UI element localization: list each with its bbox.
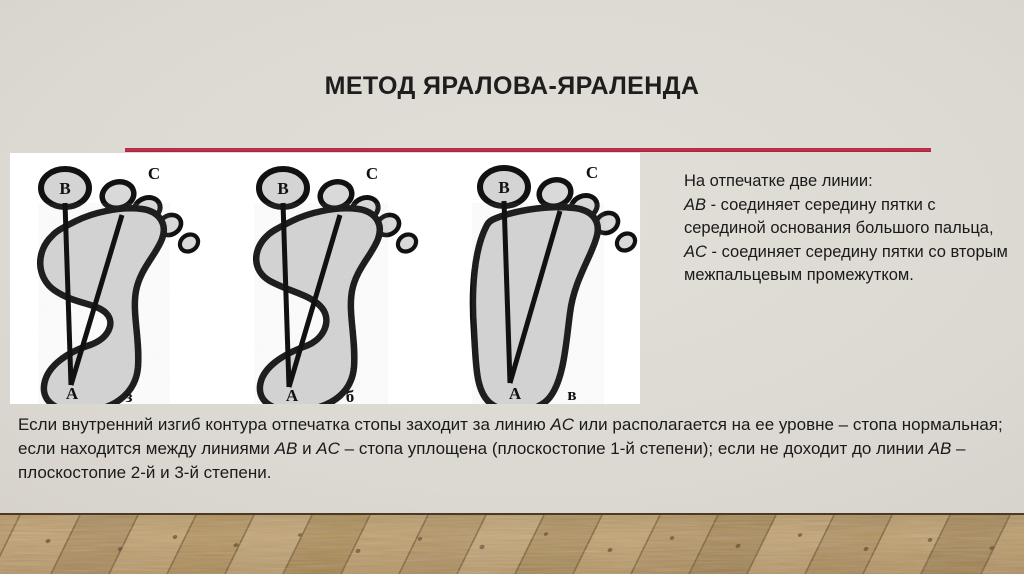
label-point-a: A: [509, 384, 522, 403]
footprint-caption-c: в: [567, 385, 576, 404]
bottom-em-ac-2: AC: [316, 439, 340, 458]
label-point-a: A: [66, 384, 79, 403]
line-desc-ab: - соединяет середину пятки с серединой о…: [684, 196, 994, 238]
line-label-ac: AC: [684, 243, 707, 261]
bottom-part-1: Если внутренний изгиб контура отпечатка …: [18, 415, 550, 434]
label-point-b: B: [59, 179, 70, 198]
interpretation-paragraph: Если внутренний изгиб контура отпечатка …: [18, 413, 1008, 485]
label-point-c: C: [366, 164, 378, 183]
bottom-em-ab-1: AB: [275, 439, 298, 458]
line-definitions-text: На отпечатке две линии: AB - соединяет с…: [684, 170, 1020, 288]
wooden-floor-decoration: [0, 513, 1024, 574]
title-divider: [125, 148, 931, 152]
label-point-c: C: [148, 164, 160, 183]
footprint-figure-a: B C A з: [24, 153, 234, 404]
footprint-diagram-panel: B C A з: [10, 153, 640, 404]
label-point-b: B: [277, 179, 288, 198]
bottom-em-ab-2: AB: [929, 439, 952, 458]
bottom-part-4: – стопа уплощена (плоскостопие 1-й степе…: [340, 439, 929, 458]
footprint-caption-b: б: [346, 387, 355, 404]
label-point-b: B: [498, 178, 509, 197]
page-title: МЕТОД ЯРАЛОВА-ЯРАЛЕНДА: [0, 72, 1024, 101]
footprint-figure-c: B C A в: [454, 153, 640, 404]
line-desc-ac: - соединяет середину пятки со вторым меж…: [684, 243, 1008, 285]
bottom-part-3: и: [297, 439, 316, 458]
footprint-caption-a: з: [126, 387, 133, 404]
label-point-c: C: [586, 163, 598, 182]
footprint-figure-b: B C A б: [238, 153, 448, 404]
right-text-line-3: AC - соединяет середину пятки со вторым …: [684, 241, 1020, 288]
line-label-ab: AB: [684, 196, 706, 214]
label-point-a: A: [286, 386, 299, 404]
right-text-line-1: На отпечатке две линии:: [684, 170, 1020, 194]
right-text-line-2: AB - соединяет середину пятки с середино…: [684, 194, 1020, 241]
slide-canvas: МЕТОД ЯРАЛОВА-ЯРАЛЕНДА: [0, 0, 1024, 574]
bottom-em-ac-1: AC: [550, 415, 574, 434]
